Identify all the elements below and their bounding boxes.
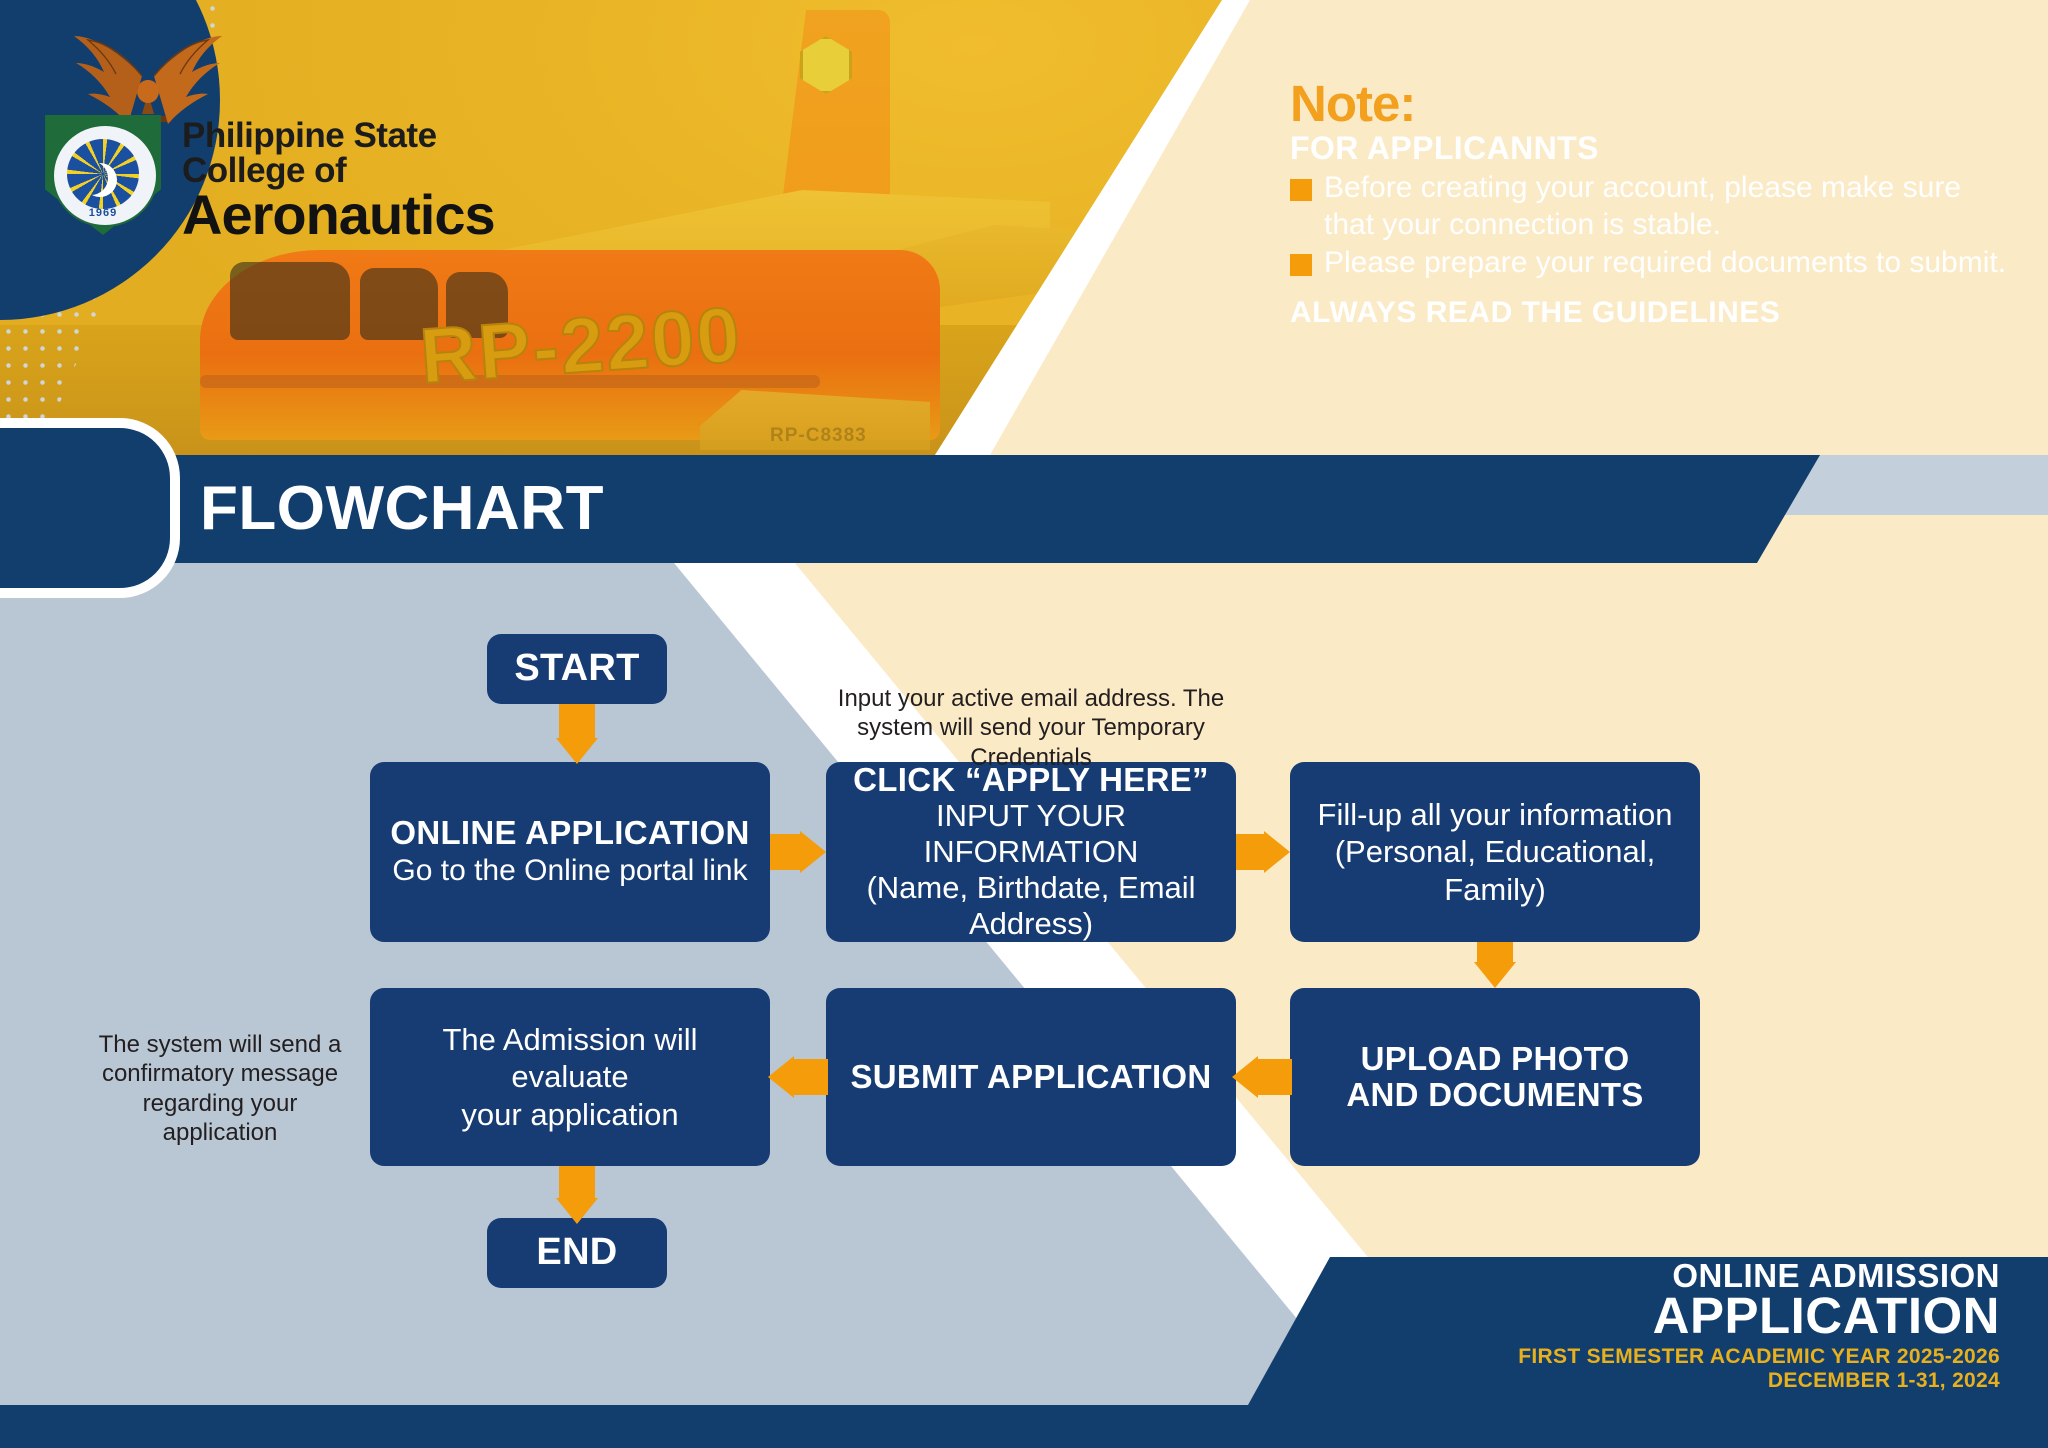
flow-node-start-label: START (514, 648, 639, 690)
flow-node-end-label: END (536, 1232, 617, 1274)
square-bullet-icon (1290, 179, 1312, 201)
flow-node-body-line2: (Name, Birthdate, Email Address) (840, 870, 1222, 942)
college-logo: 1969 Philippine State College of Aeronau… (40, 20, 460, 210)
flow-node-submit-application[interactable]: SUBMIT APPLICATION (826, 988, 1236, 1166)
bottom-right-badge-text: ONLINE ADMISSION APPLICATION FIRST SEMES… (1300, 1259, 2000, 1393)
note-item: Before creating your account, please mak… (1290, 170, 2010, 243)
note-item-text: Please prepare your required documents t… (1324, 245, 2006, 282)
flow-node-heading: SUBMIT APPLICATION (850, 1059, 1211, 1095)
flow-node-body-line1: INPUT YOUR INFORMATION (840, 798, 1222, 870)
flow-node-admission-evaluate[interactable]: The Admission will evaluate your applica… (370, 988, 770, 1166)
badge-line-dates: DECEMBER 1-31, 2024 (1300, 1369, 2000, 1393)
flowchart-section-title: FLOWCHART (200, 478, 604, 540)
flow-node-end[interactable]: END (487, 1218, 667, 1288)
note-block: Note: FOR APPLICANNTS Before creating yo… (1290, 78, 2010, 330)
flow-node-body: Go to the Online portal link (392, 853, 747, 889)
badge-line-application: APPLICATION (1300, 1290, 2000, 1341)
college-name-line2: Aeronautics (182, 186, 542, 243)
footer-navy-strip (0, 1405, 2048, 1448)
flow-node-apply-here[interactable]: CLICK “APPLY HERE” INPUT YOUR INFORMATIO… (826, 762, 1236, 942)
aircraft-registration-small-text: RP-C8383 (770, 425, 867, 447)
badge-line-semester: FIRST SEMESTER ACADEMIC YEAR 2025-2026 (1300, 1345, 2000, 1369)
flow-node-start[interactable]: START (487, 634, 667, 704)
flow-node-heading: ONLINE APPLICATION (390, 815, 749, 851)
square-bullet-icon (1290, 254, 1312, 276)
note-title: Note: (1290, 78, 2010, 129)
flow-node-heading-line2: AND DOCUMENTS (1346, 1077, 1643, 1113)
college-name-line1: Philippine State College of (182, 118, 542, 188)
flow-node-fill-up-information[interactable]: Fill-up all your information (Personal, … (1290, 762, 1700, 942)
college-name: Philippine State College of Aeronautics (182, 118, 542, 243)
flow-node-body-line2: your application (461, 1096, 678, 1133)
flow-node-body-line2: (Personal, Educational, Family) (1304, 833, 1686, 907)
note-item-text: Before creating your account, please mak… (1324, 170, 2010, 243)
crest-crescent-icon (74, 161, 108, 195)
note-item: Please prepare your required documents t… (1290, 245, 2010, 282)
caption-confirmation-message: The system will send a confirmatory mess… (95, 1030, 345, 1147)
college-crest-icon: 1969 (40, 115, 166, 235)
note-subtitle: FOR APPLICANNTS (1290, 131, 2010, 166)
flow-node-online-application[interactable]: ONLINE APPLICATION Go to the Online port… (370, 762, 770, 942)
flow-node-upload-photo-documents[interactable]: UPLOAD PHOTO AND DOCUMENTS (1290, 988, 1700, 1166)
poster-root: PSCA ADMISSION RP-2200 RP-C8383 (0, 0, 2048, 1448)
eagle-icon (68, 28, 228, 128)
note-footer-text: ALWAYS READ THE GUIDELINES (1290, 296, 2010, 330)
aircraft-windshield (230, 262, 350, 340)
flowchart-left-tab (0, 418, 180, 598)
caption-email-instruction: Input your active email address. The sys… (826, 684, 1236, 772)
crest-year-text: 1969 (40, 207, 166, 219)
flow-node-body-line1: The Admission will evaluate (384, 1021, 756, 1095)
flow-node-heading-line1: UPLOAD PHOTO (1361, 1041, 1630, 1077)
flow-node-body-line1: Fill-up all your information (1318, 796, 1673, 833)
